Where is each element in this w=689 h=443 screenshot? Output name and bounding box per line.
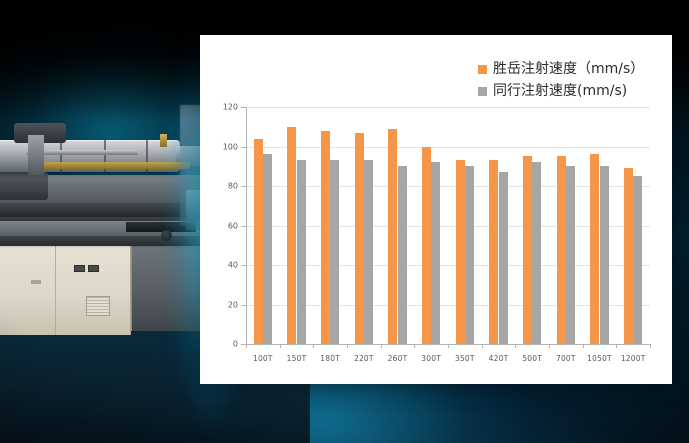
slide-canvas: 胜岳注射速度（mm/s）同行注射速度(mm/s) 020406080100120…	[0, 0, 689, 443]
y-axis-tick-label: 80	[228, 182, 238, 191]
x-axis-tick-label: 220T	[354, 354, 374, 363]
bar-150T-series1[interactable]	[287, 127, 296, 344]
x-axis-tick	[381, 344, 382, 348]
y-axis-tick-label: 120	[223, 103, 238, 112]
bar-220T-series1[interactable]	[355, 133, 364, 344]
x-axis-tick	[414, 344, 415, 348]
x-axis-tick-label: 1050T	[587, 354, 612, 363]
bar-180T-series1[interactable]	[321, 131, 330, 344]
bar-300T-series2[interactable]	[431, 162, 440, 344]
y-axis-tick-label: 60	[228, 221, 238, 230]
bar-420T-series1[interactable]	[489, 160, 498, 344]
y-axis-tick-label: 0	[233, 340, 238, 349]
chart-plot-area: 020406080100120 100T150T180T220T260T300T…	[246, 107, 650, 344]
gridline	[246, 147, 650, 148]
x-axis-tick-label: 180T	[320, 354, 340, 363]
legend-item-label: 同行注射速度(mm/s)	[493, 83, 627, 99]
legend-item-label: 胜岳注射速度（mm/s）	[493, 61, 644, 77]
x-axis-tick-label: 350T	[455, 354, 475, 363]
bar-700T-series2[interactable]	[566, 166, 575, 344]
bar-700T-series1[interactable]	[557, 156, 566, 344]
x-axis-tick	[482, 344, 483, 348]
bar-420T-series2[interactable]	[499, 172, 508, 344]
legend-item[interactable]: 同行注射速度(mm/s)	[478, 83, 663, 99]
legend-swatch-icon	[478, 87, 487, 96]
gridline	[246, 107, 650, 108]
x-axis-tick-label: 150T	[287, 354, 307, 363]
bar-500T-series1[interactable]	[523, 156, 532, 344]
x-axis-tick-label: 1200T	[621, 354, 646, 363]
legend-item[interactable]: 胜岳注射速度（mm/s）	[478, 61, 663, 77]
bar-260T-series2[interactable]	[398, 166, 407, 344]
y-axis-tick	[241, 226, 246, 227]
x-axis-tick-label: 500T	[522, 354, 542, 363]
y-axis-tick	[241, 107, 246, 108]
x-axis-tick	[347, 344, 348, 348]
y-axis-tick	[241, 265, 246, 266]
chart-panel: 胜岳注射速度（mm/s）同行注射速度(mm/s) 020406080100120…	[200, 35, 672, 384]
x-axis-tick-label: 420T	[489, 354, 509, 363]
x-axis-tick	[313, 344, 314, 348]
y-axis-tick	[241, 305, 246, 306]
x-axis-tick-label: 300T	[421, 354, 441, 363]
legend-swatch-icon	[478, 65, 487, 74]
bar-350T-series2[interactable]	[465, 166, 474, 344]
bar-220T-series2[interactable]	[364, 160, 373, 344]
x-axis-tick	[650, 344, 651, 348]
x-axis-tick	[280, 344, 281, 348]
bar-100T-series2[interactable]	[263, 154, 272, 344]
x-axis-tick-label: 100T	[253, 354, 273, 363]
bar-1200T-series1[interactable]	[624, 168, 633, 344]
y-axis-tick-label: 40	[228, 261, 238, 270]
bar-150T-series2[interactable]	[297, 160, 306, 344]
chart-legend: 胜岳注射速度（mm/s）同行注射速度(mm/s)	[478, 61, 663, 105]
x-axis-tick	[616, 344, 617, 348]
y-axis-tick	[241, 186, 246, 187]
bar-500T-series2[interactable]	[532, 162, 541, 344]
bar-180T-series2[interactable]	[330, 160, 339, 344]
bar-1050T-series1[interactable]	[590, 154, 599, 344]
x-axis-tick	[549, 344, 550, 348]
bar-1050T-series2[interactable]	[600, 166, 609, 344]
y-axis-tick	[241, 147, 246, 148]
bar-300T-series1[interactable]	[422, 147, 431, 345]
x-axis-tick	[515, 344, 516, 348]
bar-260T-series1[interactable]	[388, 129, 397, 344]
bar-100T-series1[interactable]	[254, 139, 263, 344]
x-axis-tick	[448, 344, 449, 348]
chart-y-axis	[246, 107, 247, 344]
y-axis-tick-label: 20	[228, 300, 238, 309]
bar-350T-series1[interactable]	[456, 160, 465, 344]
x-axis-tick-label: 260T	[388, 354, 408, 363]
x-axis-tick-label: 700T	[556, 354, 576, 363]
x-axis-tick	[246, 344, 247, 348]
x-axis-tick	[583, 344, 584, 348]
bar-1200T-series2[interactable]	[633, 176, 642, 344]
y-axis-tick-label: 100	[223, 142, 238, 151]
